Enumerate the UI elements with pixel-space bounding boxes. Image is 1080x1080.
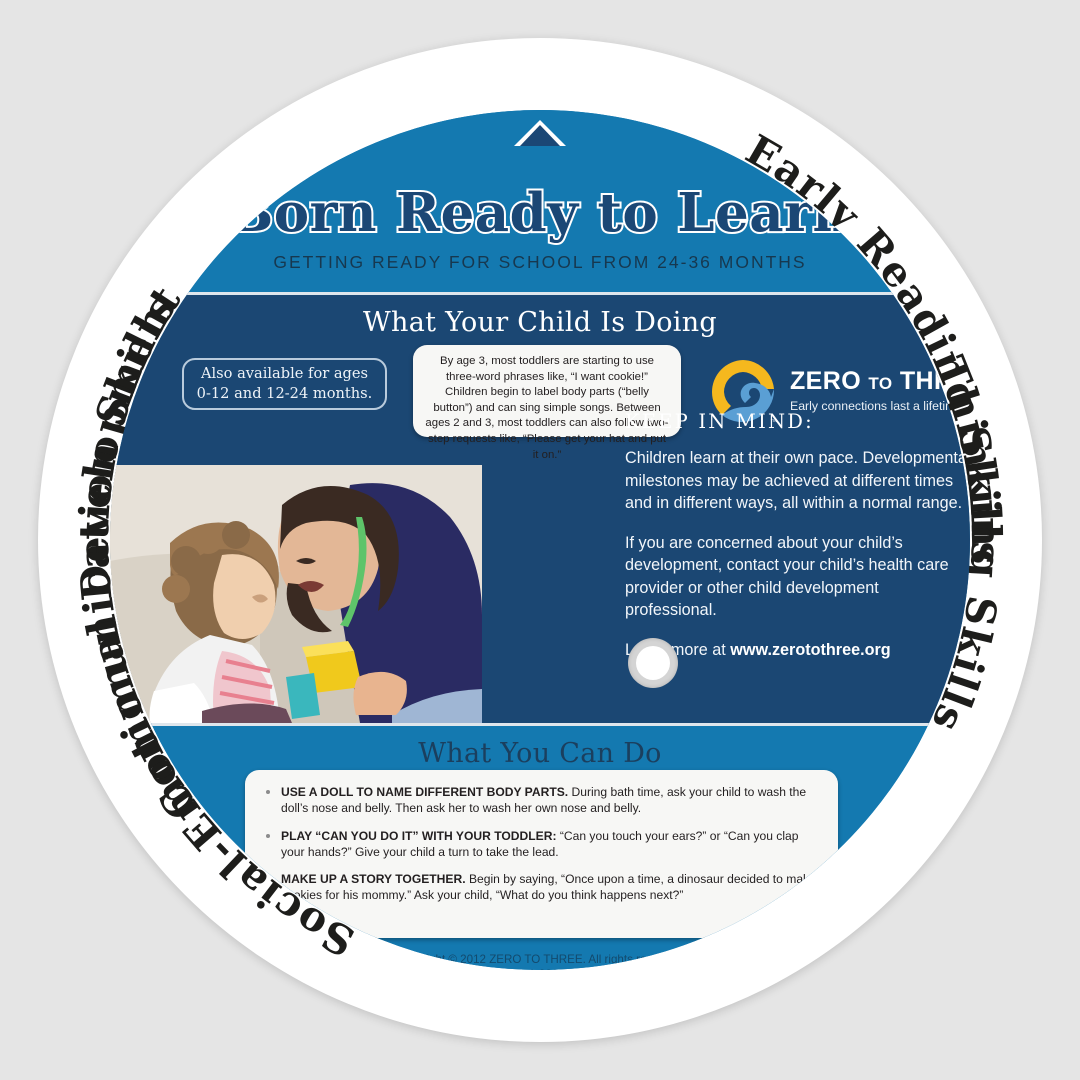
- page-subtitle: GETTING READY FOR SCHOOL FROM 24-36 MONT…: [110, 252, 970, 273]
- photo-mom-and-child: [110, 465, 482, 723]
- list-item: MAKE UP A STORY TOGETHER. Begin by sayin…: [263, 871, 816, 904]
- availability-badge: Also available for ages 0-12 and 12-24 m…: [182, 358, 387, 410]
- keep-in-mind-heading: KEEP IN MIND:: [625, 410, 970, 433]
- can-do-lead-2: PLAY “CAN YOU DO IT” WITH YOUR TODDLER:: [281, 829, 557, 843]
- copyright-line: Copyright © 2012 ZERO TO THREE. All righ…: [110, 952, 970, 967]
- availability-line2: 0-12 and 12-24 months.: [197, 385, 373, 402]
- wheel-inner-card: Born Ready to Learn GETTING READY FOR SC…: [110, 110, 970, 970]
- can-do-card: USE A DOLL TO NAME DIFFERENT BODY PARTS.…: [245, 770, 838, 938]
- page-title: Born Ready to Learn: [110, 182, 970, 244]
- keep-in-mind-block: KEEP IN MIND: Children learn at their ow…: [625, 410, 970, 661]
- logo-name-three: THREE: [900, 367, 970, 395]
- section-heading-can-do: What You Can Do: [110, 738, 970, 769]
- zerotothree-url[interactable]: www.zerotothree.org: [730, 641, 890, 659]
- list-item: PLAY “CAN YOU DO IT” WITH YOUR TODDLER: …: [263, 828, 816, 861]
- triangle-pointer-icon: [514, 120, 566, 146]
- section-heading-doing: What Your Child Is Doing: [110, 307, 970, 338]
- can-do-lead-3: MAKE UP A STORY TOGETHER.: [281, 872, 466, 886]
- center-hub-icon[interactable]: [628, 638, 678, 688]
- wheel-page: Communication Skills Early Reading Skill…: [0, 0, 1080, 1080]
- logo-name-to: TO: [868, 374, 892, 393]
- can-do-lead-1: USE A DOLL TO NAME DIFFERENT BODY PARTS.: [281, 785, 568, 799]
- keep-in-mind-paragraph-1: Children learn at their own pace. Develo…: [625, 447, 970, 515]
- keep-in-mind-paragraph-2: If you are concerned about your child’s …: [625, 532, 970, 622]
- logo-name-zero: ZERO: [790, 367, 861, 395]
- availability-line1: Also available for ages: [201, 365, 368, 382]
- logo-name: ZERO TO THREE: [790, 367, 970, 396]
- list-item: USE A DOLL TO NAME DIFFERENT BODY PARTS.…: [263, 784, 816, 817]
- isbn-line: ISBN 978-1-938558-02-3: [110, 967, 970, 970]
- footer-copyright: Copyright © 2012 ZERO TO THREE. All righ…: [110, 952, 970, 970]
